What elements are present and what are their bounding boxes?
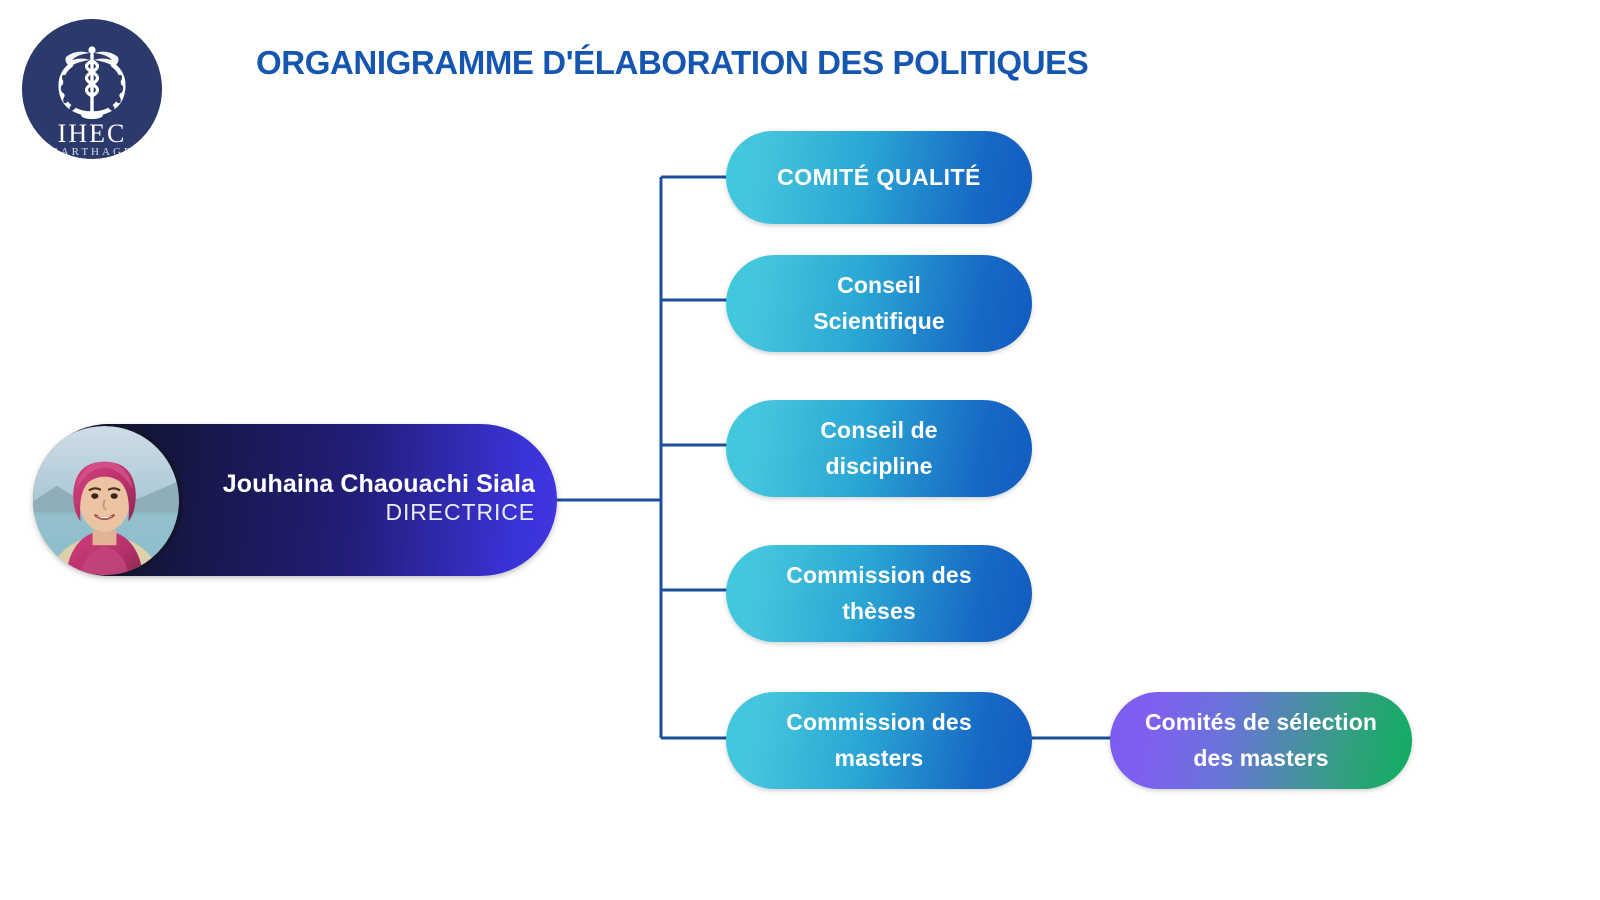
node-line-1: Comités de sélection bbox=[1145, 709, 1377, 735]
node-line-2: discipline bbox=[825, 453, 932, 479]
node-commission-des-theses[interactable]: Commission des thèses bbox=[726, 545, 1032, 642]
director-name: Jouhaina Chaouachi Siala bbox=[223, 470, 535, 498]
node-line-2: thèses bbox=[842, 598, 915, 624]
node-line-1: Commission des bbox=[786, 562, 971, 588]
node-line-2: masters bbox=[835, 745, 924, 771]
svg-text:IHEC: IHEC bbox=[58, 119, 127, 148]
node-conseil-de-discipline[interactable]: Conseil de discipline bbox=[726, 400, 1032, 497]
svg-text:CARTHAGE: CARTHAGE bbox=[50, 146, 133, 158]
node-line-1: Conseil bbox=[837, 272, 921, 298]
director-card[interactable]: Jouhaina Chaouachi Siala DIRECTRICE bbox=[33, 424, 557, 576]
node-conseil-scientifique[interactable]: Conseil Scientifique bbox=[726, 255, 1032, 352]
node-comite-qualite[interactable]: COMITÉ QUALITÉ bbox=[726, 131, 1032, 224]
node-commission-des-masters[interactable]: Commission des masters bbox=[726, 692, 1032, 789]
ihec-carthage-logo: IHEC CARTHAGE bbox=[22, 19, 162, 159]
node-conseil-de-discipline-label: Conseil de discipline bbox=[820, 413, 937, 484]
node-line-2: des masters bbox=[1193, 745, 1328, 771]
node-line-1: Conseil de bbox=[820, 417, 937, 443]
node-comites-de-selection-des-masters[interactable]: Comités de sélection des masters bbox=[1110, 692, 1412, 789]
page-title: ORGANIGRAMME D'ÉLABORATION DES POLITIQUE… bbox=[256, 44, 1356, 82]
logo-emblem-icon: IHEC CARTHAGE bbox=[22, 19, 162, 159]
node-comite-qualite-label: COMITÉ QUALITÉ bbox=[777, 160, 981, 196]
node-commission-des-masters-label: Commission des masters bbox=[786, 705, 971, 776]
node-line-2: Scientifique bbox=[813, 308, 945, 334]
node-commission-des-theses-label: Commission des thèses bbox=[786, 558, 971, 629]
director-role: DIRECTRICE bbox=[223, 500, 535, 526]
director-avatar bbox=[33, 424, 183, 576]
node-line-1: Commission des bbox=[786, 709, 971, 735]
node-conseil-scientifique-label: Conseil Scientifique bbox=[813, 268, 945, 339]
node-comites-de-selection-label: Comités de sélection des masters bbox=[1145, 705, 1377, 776]
portrait-image bbox=[33, 426, 179, 575]
director-info: Jouhaina Chaouachi Siala DIRECTRICE bbox=[223, 470, 535, 526]
